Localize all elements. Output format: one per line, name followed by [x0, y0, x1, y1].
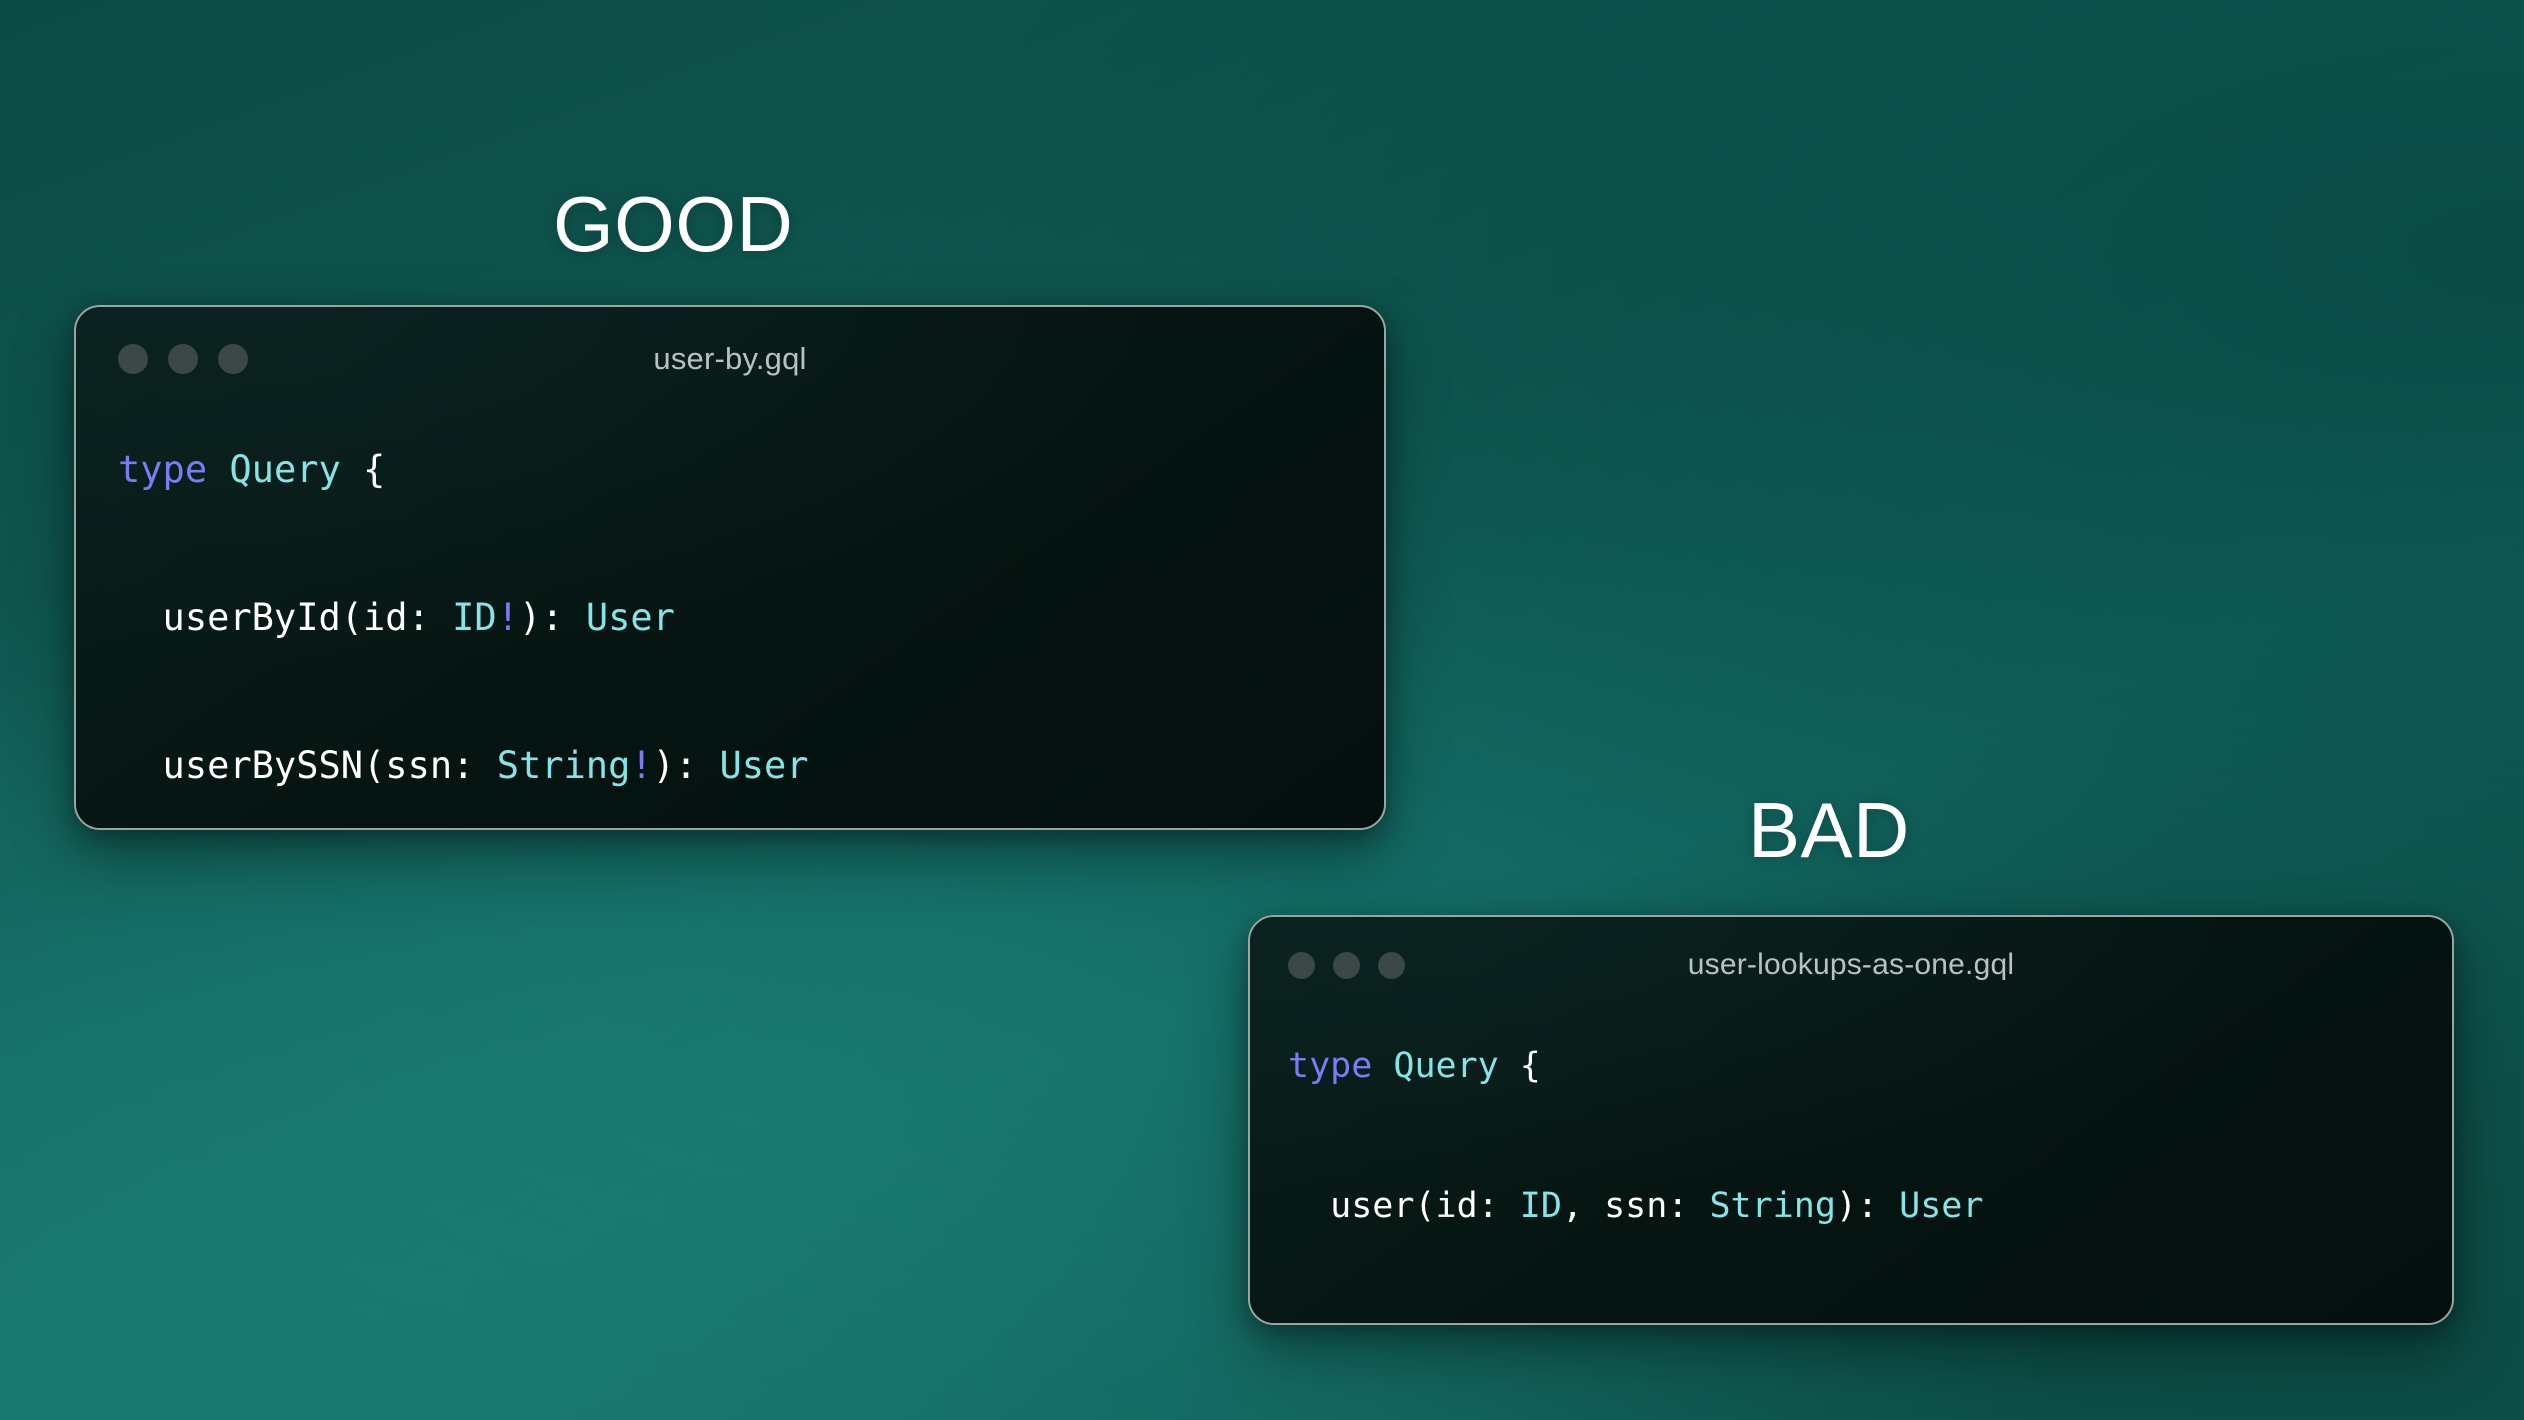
code-token-plain: user(id:	[1288, 1186, 1520, 1226]
close-dot-icon[interactable]	[1288, 952, 1315, 979]
label-good: GOOD	[553, 179, 793, 270]
code-line: }	[1288, 1311, 2452, 1325]
code-line: type Query {	[1288, 1031, 2452, 1101]
code-window-good: user-by.gql type Query { userById(id: ID…	[74, 305, 1386, 830]
traffic-lights-good	[118, 344, 248, 374]
code-token-type: User	[1899, 1186, 1983, 1226]
titlebar-good: user-by.gql	[76, 307, 1384, 411]
code-body-bad: type Query { user(id: ID, ssn: String): …	[1250, 1013, 2452, 1325]
code-token-plain: {	[1499, 1046, 1541, 1086]
titlebar-bad: user-lookups-as-one.gql	[1250, 917, 2452, 1013]
code-token-type: Query	[229, 448, 340, 491]
code-line: userById(id: ID!): User	[118, 581, 1384, 655]
code-token-type: User	[719, 744, 808, 787]
maximize-dot-icon[interactable]	[218, 344, 248, 374]
code-body-good: type Query { userById(id: ID!): User use…	[76, 411, 1384, 830]
maximize-dot-icon[interactable]	[1378, 952, 1405, 979]
window-title-good: user-by.gql	[76, 341, 1384, 377]
code-token-type: String	[497, 744, 631, 787]
window-inner-bad: user-lookups-as-one.gql type Query { use…	[1250, 917, 2452, 1323]
code-token-kw: type	[118, 448, 207, 491]
code-line: type Query {	[118, 433, 1384, 507]
code-token-kw: !	[497, 596, 519, 639]
code-token-kw: type	[1288, 1046, 1372, 1086]
close-dot-icon[interactable]	[118, 344, 148, 374]
code-token-plain: ):	[519, 596, 586, 639]
code-token-plain: {	[341, 448, 386, 491]
code-token-type: Query	[1393, 1046, 1498, 1086]
minimize-dot-icon[interactable]	[1333, 952, 1360, 979]
code-token-plain: ):	[653, 744, 720, 787]
minimize-dot-icon[interactable]	[168, 344, 198, 374]
code-token-type: User	[586, 596, 675, 639]
code-line: user(id: ID, ssn: String): User	[1288, 1171, 2452, 1241]
code-token-type: String	[1709, 1186, 1835, 1226]
code-token-plain: , ssn:	[1562, 1186, 1710, 1226]
traffic-lights-bad	[1288, 952, 1405, 979]
code-token-plain: ):	[1836, 1186, 1899, 1226]
code-token-plain	[207, 448, 229, 491]
label-bad: BAD	[1748, 785, 1910, 876]
code-token-plain	[1372, 1046, 1393, 1086]
code-line: userBySSN(ssn: String!): User	[118, 729, 1384, 803]
code-token-plain: userById(id:	[118, 596, 452, 639]
code-token-type: ID	[1520, 1186, 1562, 1226]
code-token-type: ID	[452, 596, 497, 639]
window-title-bad: user-lookups-as-one.gql	[1250, 948, 2452, 982]
window-inner-good: user-by.gql type Query { userById(id: ID…	[76, 307, 1384, 828]
code-token-kw: !	[630, 744, 652, 787]
code-window-bad: user-lookups-as-one.gql type Query { use…	[1248, 915, 2454, 1325]
code-token-plain: userBySSN(ssn:	[118, 744, 497, 787]
